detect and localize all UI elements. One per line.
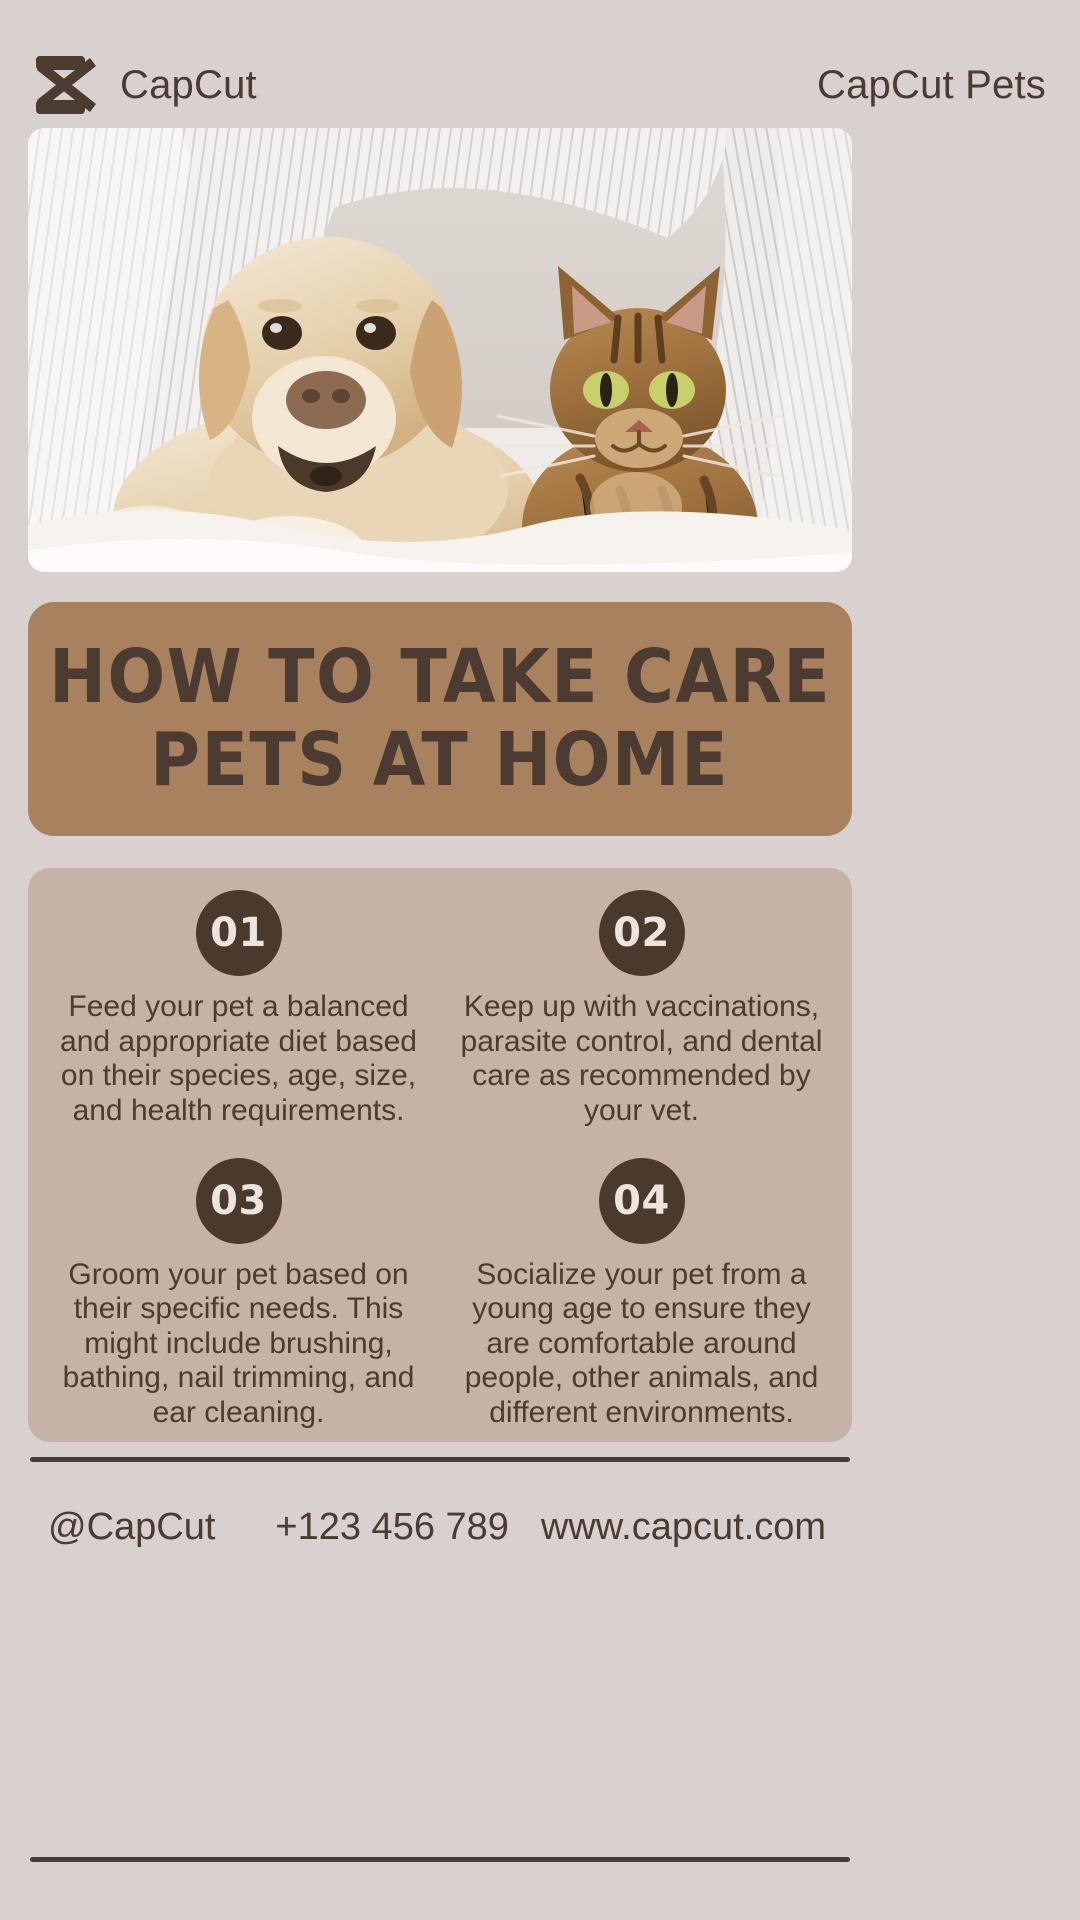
tip-text-01: Feed your pet a balanced and appropriate…: [44, 990, 433, 1128]
tip-number-badge-02: 02: [599, 890, 685, 976]
tip-text-04: Socialize your pet from a young age to e…: [447, 1258, 836, 1431]
brand: CapCut: [34, 52, 257, 118]
capcut-logo-icon: [34, 52, 102, 118]
tip-text-02: Keep up with vaccinations, parasite cont…: [447, 990, 836, 1128]
tips-grid: 01 Feed your pet a balanced and appropri…: [44, 886, 836, 1430]
tip-number-badge-03: 03: [196, 1158, 282, 1244]
page-title-line-1: HOW TO TAKE CARE: [49, 641, 831, 714]
brand-name: CapCut: [120, 65, 257, 105]
tip-item-04: 04 Socialize your pet from a young age t…: [447, 1154, 836, 1431]
tip-number-badge-04: 04: [599, 1158, 685, 1244]
tip-text-03: Groom your pet based on their specific n…: [44, 1258, 433, 1431]
tip-item-03: 03 Groom your pet based on their specifi…: [44, 1154, 433, 1431]
footer: @CapCut +123 456 789 www.capcut.com: [30, 1492, 850, 1562]
page-header: CapCut CapCut Pets: [34, 50, 1046, 120]
tip-number-badge-01: 01: [196, 890, 282, 976]
footer-website[interactable]: www.capcut.com: [541, 1508, 826, 1546]
title-banner: HOW TO TAKE CARE PETS AT HOME: [28, 602, 852, 836]
header-right-label: CapCut Pets: [817, 65, 1046, 105]
tip-item-01: 01 Feed your pet a balanced and appropri…: [44, 886, 433, 1154]
tips-card: 01 Feed your pet a balanced and appropri…: [28, 868, 852, 1442]
infographic-page: CapCut CapCut Pets: [0, 0, 1080, 1920]
hero-image: [28, 128, 852, 572]
footer-divider-top: [30, 1457, 850, 1462]
footer-social-handle[interactable]: @CapCut: [48, 1508, 215, 1546]
footer-divider-bottom: [30, 1857, 850, 1862]
tip-item-02: 02 Keep up with vaccinations, parasite c…: [447, 886, 836, 1154]
page-title-line-2: PETS AT HOME: [151, 724, 730, 797]
footer-phone[interactable]: +123 456 789: [275, 1508, 509, 1546]
